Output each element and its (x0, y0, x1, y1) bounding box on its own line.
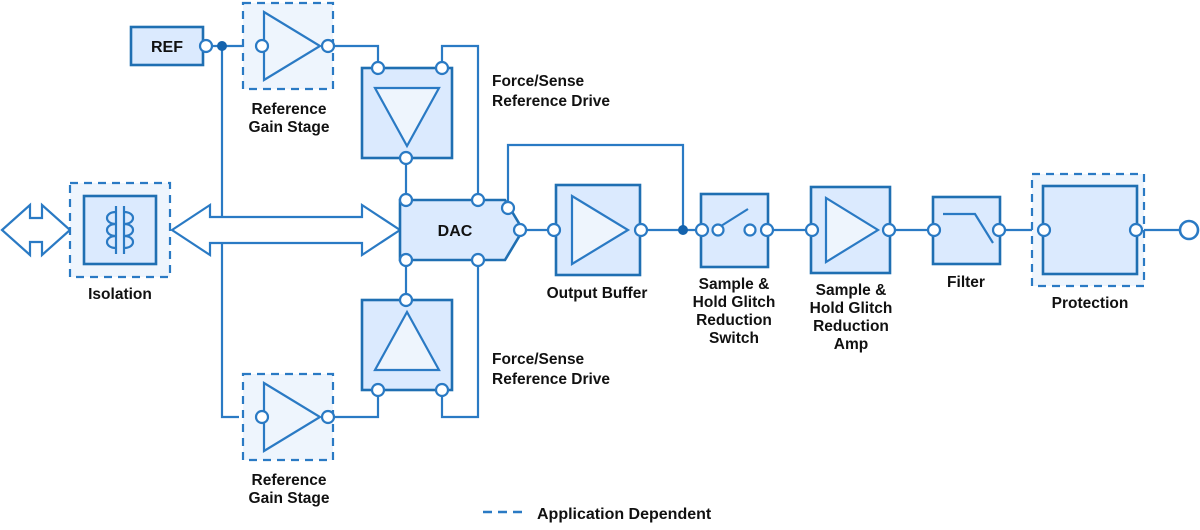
terminal-protection-out (1130, 224, 1142, 236)
sh-amp-caption-line4: Amp (834, 336, 868, 353)
legend-label: Application Dependent (537, 506, 712, 523)
block-sample-hold-amp[interactable]: Sample & Hold Glitch Reduction Amp (810, 187, 893, 353)
block-sample-hold-switch[interactable]: Sample & Hold Glitch Reduction Switch (693, 194, 776, 347)
terminal-sh-amp-in (806, 224, 818, 236)
external-bus-arrow (2, 205, 70, 255)
terminal-dac-out (514, 224, 526, 236)
block-output-buffer[interactable]: Output Buffer (547, 185, 648, 302)
protection-caption: Protection (1052, 295, 1129, 312)
force-sense-bottom-caption-line1: Force/Sense (492, 351, 585, 368)
terminal-refgain-bot-out (322, 411, 334, 423)
sh-switch-caption-line4: Switch (709, 330, 759, 347)
terminal-ref-out (200, 40, 212, 52)
terminal-fs-top-right (436, 62, 448, 74)
junction-dot-ref (217, 41, 227, 51)
filter-body (933, 197, 1000, 264)
terminal-output-buffer-out (635, 224, 647, 236)
block-reference-gain-stage-top[interactable]: Reference Gain Stage (243, 3, 333, 136)
terminal-fs-bot-top (400, 294, 412, 306)
block-force-sense-bottom[interactable]: Force/Sense Reference Drive (362, 300, 610, 390)
wide-double-arrow-icon (172, 205, 400, 255)
terminal-refgain-bot-in (256, 411, 268, 423)
ref-label: REF (151, 39, 183, 56)
protection-body (1043, 186, 1137, 274)
terminal-protection-in (1038, 224, 1050, 236)
sh-amp-caption-line1: Sample & (816, 282, 887, 299)
terminal-refgain-top-in (256, 40, 268, 52)
terminal-fs-bot-left (372, 384, 384, 396)
block-filter[interactable]: Filter (933, 197, 1000, 291)
sh-amp-caption-line2: Hold Glitch (810, 300, 893, 317)
terminal-sh-amp-out (883, 224, 895, 236)
terminal-filter-in (928, 224, 940, 236)
dac-label: DAC (438, 223, 473, 240)
block-diagram-canvas: Isolation REF Reference Gain Stage Refer… (0, 0, 1200, 530)
block-protection[interactable]: Protection (1032, 174, 1144, 312)
terminal-dac-top-left (400, 194, 412, 206)
terminal-fs-top-left (372, 62, 384, 74)
refgain-top-caption-line2: Gain Stage (249, 119, 330, 136)
sh-switch-caption-line1: Sample & (699, 276, 770, 293)
terminal-fs-bot-right (436, 384, 448, 396)
terminal-dac-top-right (472, 194, 484, 206)
sh-switch-caption-line2: Hold Glitch (693, 294, 776, 311)
terminal-sh-switch-in (696, 224, 708, 236)
force-sense-top-caption-line1: Force/Sense (492, 73, 585, 90)
wire-refgain-bot-to-fs-bot-left (330, 390, 378, 417)
terminal-dac-bottom-left (400, 254, 412, 266)
sh-switch-body (701, 194, 768, 267)
double-arrow-icon (2, 205, 70, 255)
sh-switch-caption-line3: Reduction (696, 312, 772, 329)
terminal-refgain-top-out (322, 40, 334, 52)
terminal-sh-switch-out (761, 224, 773, 236)
refgain-bottom-caption-line2: Gain Stage (249, 490, 330, 507)
refgain-bottom-caption-line1: Reference (252, 472, 327, 489)
terminal-dac-slant-upper (502, 202, 514, 214)
block-isolation[interactable]: Isolation (70, 183, 170, 303)
block-ref[interactable]: REF (131, 27, 203, 65)
isolation-caption: Isolation (88, 286, 152, 303)
filter-caption: Filter (947, 274, 985, 291)
sh-amp-caption-line3: Reduction (813, 318, 889, 335)
legend: Application Dependent (483, 506, 712, 523)
junction-dot-feedback (678, 225, 688, 235)
terminal-fs-top-bottom (400, 152, 412, 164)
force-sense-top-caption-line2: Reference Drive (492, 93, 610, 110)
terminal-dac-bottom-right (472, 254, 484, 266)
block-reference-gain-stage-bottom[interactable]: Reference Gain Stage (243, 374, 333, 507)
output-buffer-caption: Output Buffer (547, 285, 648, 302)
isolation-body (84, 196, 156, 264)
refgain-top-caption-line1: Reference (252, 101, 327, 118)
terminal-output-buffer-in (548, 224, 560, 236)
wire-refgain-top-to-fs-top-left (330, 46, 378, 68)
force-sense-bottom-caption-line2: Reference Drive (492, 371, 610, 388)
terminal-filter-out (993, 224, 1005, 236)
isolation-dac-bus-arrow (172, 205, 400, 255)
terminal-output-node (1180, 221, 1198, 239)
signal-chain-diagram: Isolation REF Reference Gain Stage Refer… (0, 0, 1200, 530)
